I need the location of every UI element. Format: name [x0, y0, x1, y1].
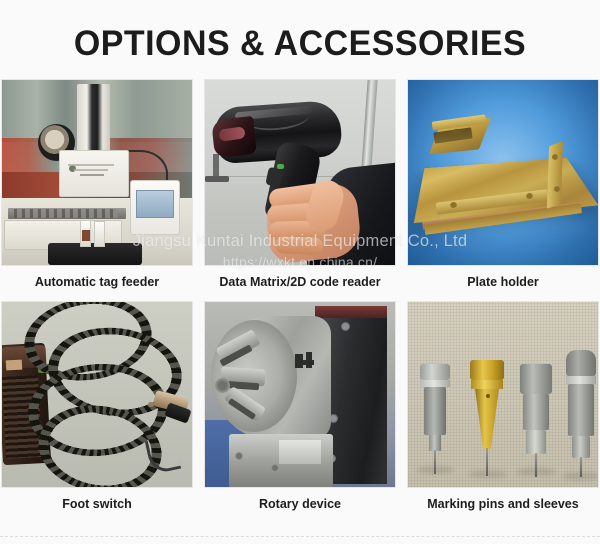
accessory-caption: Plate holder	[467, 266, 539, 301]
accessories-grid: Automatic tag feeder	[0, 79, 600, 523]
plate-holder-photo	[407, 79, 599, 266]
accessories-row-1: Automatic tag feeder	[0, 79, 600, 301]
accessory-caption: Data Matrix/2D code reader	[219, 266, 380, 301]
options-accessories-page: OPTIONS & ACCESSORIES	[0, 0, 600, 544]
automatic-tag-feeder-photo	[1, 79, 193, 266]
accessories-row-2: Foot switch	[0, 301, 600, 523]
bottom-divider	[0, 536, 600, 537]
accessory-card-plate-holder[interactable]: Plate holder	[407, 79, 599, 301]
accessory-caption: Marking pins and sleeves	[427, 488, 578, 523]
foot-switch-photo	[1, 301, 193, 488]
accessory-card-rotary-device[interactable]: Rotary device	[204, 301, 396, 523]
accessory-card-foot-switch[interactable]: Foot switch	[1, 301, 193, 523]
marking-pins-and-sleeves-photo	[407, 301, 599, 488]
rotary-device-photo	[204, 301, 396, 488]
accessory-card-data-matrix-2d-code-reader[interactable]: Data Matrix/2D code reader	[204, 79, 396, 301]
accessory-caption: Automatic tag feeder	[35, 266, 159, 301]
accessory-caption: Foot switch	[62, 488, 131, 523]
page-title: OPTIONS & ACCESSORIES	[9, 0, 591, 79]
accessory-caption: Rotary device	[259, 488, 341, 523]
accessory-card-automatic-tag-feeder[interactable]: Automatic tag feeder	[1, 79, 193, 301]
data-matrix-2d-code-reader-photo	[204, 79, 396, 266]
accessory-card-marking-pins-and-sleeves[interactable]: Marking pins and sleeves	[407, 301, 599, 523]
